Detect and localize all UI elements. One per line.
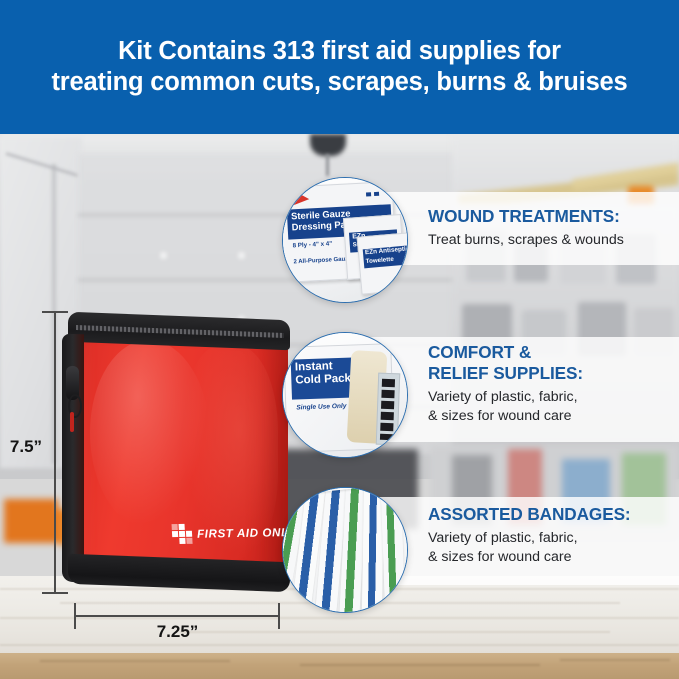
first-aid-bag: FIRST AID ONLY ®: [62, 316, 292, 589]
ceiling-lamp: [310, 134, 346, 156]
callout-description-line2: & sizes for wound care: [428, 548, 631, 567]
door-rivet: [160, 252, 167, 259]
callout-title-line1: COMFORT &: [428, 342, 583, 363]
antiseptic-packet-front: EZn Antiseptic Towelette: [357, 231, 408, 294]
dimension-cap: [42, 592, 68, 594]
infographic-canvas: FIRST AID ONLY ® 7.5” 7.25” Sterile Gauz…: [0, 0, 679, 679]
header-banner: Kit Contains 313 first aid supplies for …: [0, 0, 679, 134]
cold-pack-sub: Single Use Only: [296, 403, 346, 412]
table-edge: [0, 653, 679, 679]
cold-pack-title-line2: Cold Pack: [295, 373, 351, 387]
callout-title: ASSORTED BANDAGES:: [428, 504, 631, 525]
callout-description-line1: Variety of plastic, fabric,: [428, 529, 631, 548]
zipper-tab: [70, 412, 74, 432]
header-line-1: Kit Contains 313 first aid supplies for: [118, 36, 561, 67]
width-label: 7.25”: [75, 622, 280, 642]
callout-assorted-bandages: ASSORTED BANDAGES: Variety of plastic, f…: [428, 504, 631, 566]
callout-description-line1: Variety of plastic, fabric,: [428, 388, 583, 407]
callout-description: Treat burns, scrapes & wounds: [428, 231, 624, 250]
first-aid-cross-icon: [172, 524, 194, 545]
thermometer-strip: [376, 373, 400, 446]
callout-wound-treatments: WOUND TREATMENTS: Treat burns, scrapes &…: [428, 206, 624, 250]
product-circle-wound-treatments: Sterile Gauze Dressing Pads 8 Ply - 4" x…: [282, 177, 408, 303]
cold-pack-title-line1: Instant: [295, 360, 333, 373]
door-rivet: [238, 252, 245, 259]
callout-description-line2: & sizes for wound care: [428, 407, 583, 426]
lamp-rod: [326, 154, 329, 176]
product-circle-assorted-bandages: [282, 487, 408, 613]
bench-item: [4, 499, 58, 543]
packet-sub-2: 2 All-Purpose Gauze: [293, 256, 351, 265]
callout-title: WOUND TREATMENTS:: [428, 206, 624, 227]
height-label: 7.5”: [2, 437, 50, 457]
dimension-line: [54, 312, 56, 593]
header-line-2: treating common cuts, scrapes, burns & b…: [51, 67, 627, 98]
dimension-line: [75, 615, 280, 617]
packet-sub-1: 8 Ply - 4" x 4": [292, 240, 332, 249]
product-circle-comfort-relief: Instant Cold Pack Single Use Only: [282, 332, 408, 458]
callout-title-line2: RELIEF SUPPLIES:: [428, 363, 583, 384]
brand-logo-text: FIRST AID ONLY: [197, 526, 297, 541]
callout-comfort-relief: COMFORT & RELIEF SUPPLIES: Variety of pl…: [428, 342, 583, 425]
packet-logo-icon: [289, 189, 309, 205]
